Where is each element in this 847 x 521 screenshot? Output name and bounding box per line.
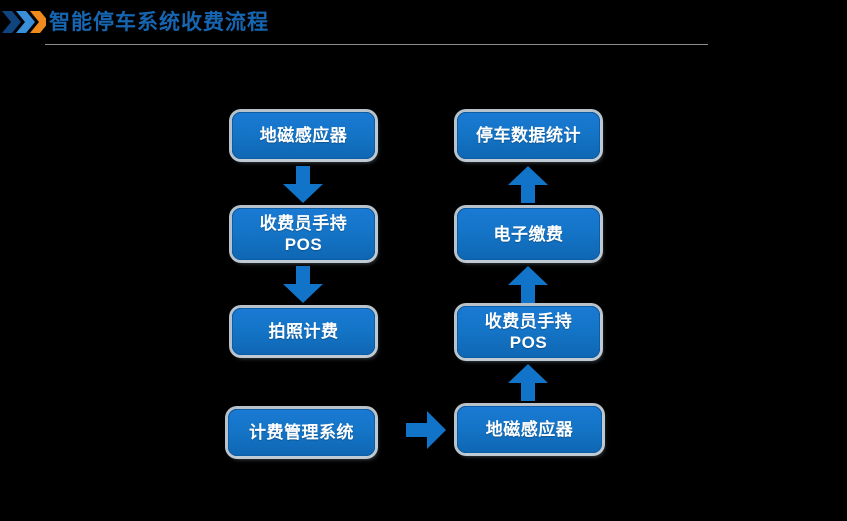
page-title: 智能停车系统收费流程 bbox=[49, 9, 269, 36]
flow-node-label: 电子缴费 bbox=[494, 224, 564, 245]
flow-node-label: 计费管理系统 bbox=[249, 422, 354, 443]
flow-node-label: 停车数据统计 bbox=[476, 125, 581, 146]
flow-node-label: 收费员手持 POS bbox=[485, 311, 573, 353]
arrow-down-left-2 bbox=[283, 266, 323, 303]
slide-header: 智能停车系统收费流程 bbox=[0, 0, 847, 56]
chevron-group-icon bbox=[2, 11, 46, 33]
arrow-down-left-1 bbox=[283, 166, 323, 203]
flow-node-left-3[interactable]: 拍照计费 bbox=[232, 308, 375, 355]
arrow-up-right-1 bbox=[508, 364, 548, 401]
arrow-up-right-2 bbox=[508, 266, 548, 303]
flow-node-label: 收费员手持 POS bbox=[260, 213, 348, 255]
flow-node-right-1[interactable]: 停车数据统计 bbox=[457, 112, 600, 159]
arrow-up-right-3 bbox=[508, 166, 548, 203]
flow-node-right-4[interactable]: 地磁感应器 bbox=[457, 406, 602, 453]
flow-node-left-1[interactable]: 地磁感应器 bbox=[232, 112, 375, 159]
arrow-right-middle bbox=[406, 411, 446, 449]
flow-node-right-3[interactable]: 收费员手持 POS bbox=[457, 306, 600, 358]
flow-node-label: 拍照计费 bbox=[269, 321, 339, 342]
flow-node-right-2[interactable]: 电子缴费 bbox=[457, 208, 600, 260]
chevron-dark-blue-icon bbox=[2, 11, 21, 33]
slide-canvas: 智能停车系统收费流程 地磁感应器 收费员手持 POS 拍照计费 计费管理系统 停… bbox=[0, 0, 847, 521]
flow-node-label: 地磁感应器 bbox=[260, 125, 348, 146]
flow-node-left-2[interactable]: 收费员手持 POS bbox=[232, 208, 375, 260]
flow-node-left-4[interactable]: 计费管理系统 bbox=[228, 409, 375, 456]
title-divider bbox=[45, 44, 708, 45]
flow-node-label: 地磁感应器 bbox=[486, 419, 574, 440]
